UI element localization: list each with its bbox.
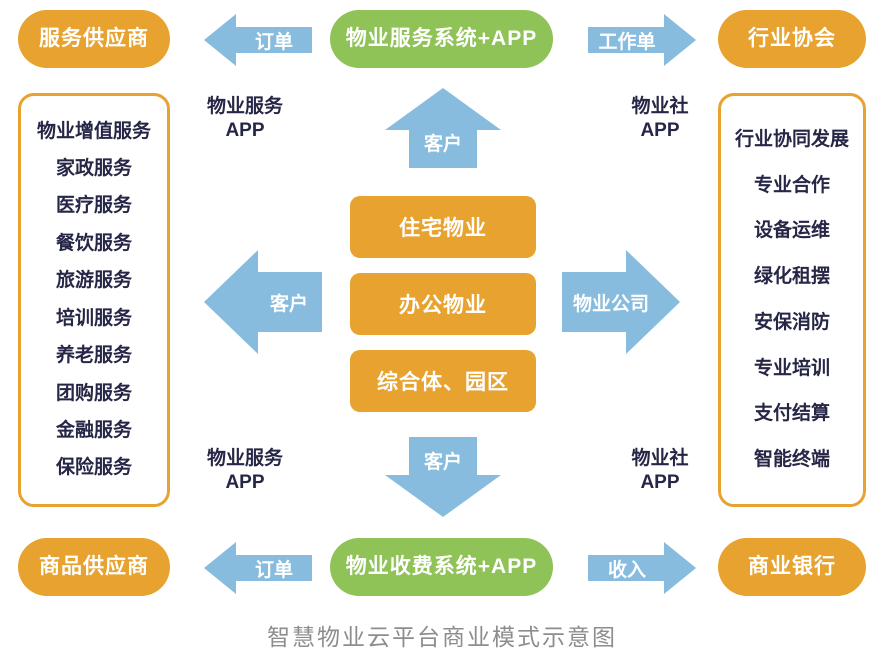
pill-service-supplier-label: 服务供应商 [39, 27, 149, 50]
list-item: 专业合作 [754, 176, 830, 196]
label-line-1: 物业社 [600, 95, 720, 119]
pill-industry-association[interactable]: 行业协会 [718, 10, 866, 68]
label-property-community-app-bottom-right: 物业社 APP [600, 447, 720, 495]
center-box-residential-label: 住宅物业 [399, 212, 487, 242]
panel-industry-collaboration: 行业协同发展 专业合作 设备运维 绿化租摆 安保消防 专业培训 支付结算 智能终… [718, 93, 866, 507]
pill-property-billing-system-label: 物业收费系统+APP [346, 555, 537, 578]
pill-property-billing-system[interactable]: 物业收费系统+APP [330, 538, 553, 596]
label-line-2: APP [600, 119, 720, 143]
arrow-customer-left[interactable]: 客户 [204, 250, 322, 354]
pill-property-service-system[interactable]: 物业服务系统+APP [330, 10, 553, 68]
list-item: 设备运维 [754, 221, 830, 241]
list-item: 金融服务 [56, 421, 132, 441]
arrow-bottom-income-right[interactable]: 收入 [588, 540, 696, 596]
label-line-2: APP [600, 471, 720, 495]
list-item: 智能终端 [754, 450, 830, 470]
pill-goods-supplier-label: 商品供应商 [39, 555, 149, 578]
arrow-bottom-order-left[interactable]: 订单 [204, 540, 312, 596]
label-line-1: 物业社 [600, 447, 720, 471]
pill-property-service-system-label: 物业服务系统+APP [346, 27, 537, 50]
label-line-2: APP [185, 119, 305, 143]
arrow-customer-down[interactable]: 客户 [385, 437, 501, 517]
center-box-residential[interactable]: 住宅物业 [350, 196, 536, 258]
list-item: 安保消防 [754, 313, 830, 333]
arrow-property-company-right[interactable]: 物业公司 [562, 250, 680, 354]
label-property-service-app-bottom-left: 物业服务 APP [185, 447, 305, 495]
center-box-office[interactable]: 办公物业 [350, 273, 536, 335]
list-item: 行业协同发展 [735, 130, 849, 150]
pill-commercial-bank[interactable]: 商业银行 [718, 538, 866, 596]
list-item: 专业培训 [754, 359, 830, 379]
label-line-2: APP [185, 471, 305, 495]
list-item: 绿化租摆 [754, 267, 830, 287]
pill-service-supplier[interactable]: 服务供应商 [18, 10, 170, 68]
arrow-customer-up[interactable]: 客户 [385, 88, 501, 168]
label-line-1: 物业服务 [185, 447, 305, 471]
pill-commercial-bank-label: 商业银行 [748, 555, 836, 578]
center-box-office-label: 办公物业 [399, 289, 487, 319]
arrow-top-order-left[interactable]: 订单 [204, 12, 312, 68]
list-item: 培训服务 [56, 309, 132, 329]
pill-industry-association-label: 行业协会 [748, 27, 836, 50]
list-item: 物业增值服务 [37, 122, 151, 142]
diagram-caption: 智慧物业云平台商业模式示意图 [0, 618, 884, 652]
label-line-1: 物业服务 [185, 95, 305, 119]
label-property-community-app-top-right: 物业社 APP [600, 95, 720, 143]
list-item: 保险服务 [56, 458, 132, 478]
pill-goods-supplier[interactable]: 商品供应商 [18, 538, 170, 596]
list-item: 医疗服务 [56, 196, 132, 216]
diagram-canvas: 服务供应商 订单 物业服务系统+APP 工作单 行业协会 物业增值服务 家政服务… [0, 0, 884, 657]
list-item: 支付结算 [754, 404, 830, 424]
list-item: 旅游服务 [56, 271, 132, 291]
arrow-top-workorder-right[interactable]: 工作单 [588, 12, 696, 68]
center-box-complex-park-label: 综合体、园区 [377, 366, 509, 396]
list-item: 养老服务 [56, 346, 132, 366]
list-item: 家政服务 [56, 159, 132, 179]
center-box-complex-park[interactable]: 综合体、园区 [350, 350, 536, 412]
list-item: 餐饮服务 [56, 234, 132, 254]
panel-value-added-services: 物业增值服务 家政服务 医疗服务 餐饮服务 旅游服务 培训服务 养老服务 团购服… [18, 93, 170, 507]
label-property-service-app-top-left: 物业服务 APP [185, 95, 305, 143]
list-item: 团购服务 [56, 384, 132, 404]
